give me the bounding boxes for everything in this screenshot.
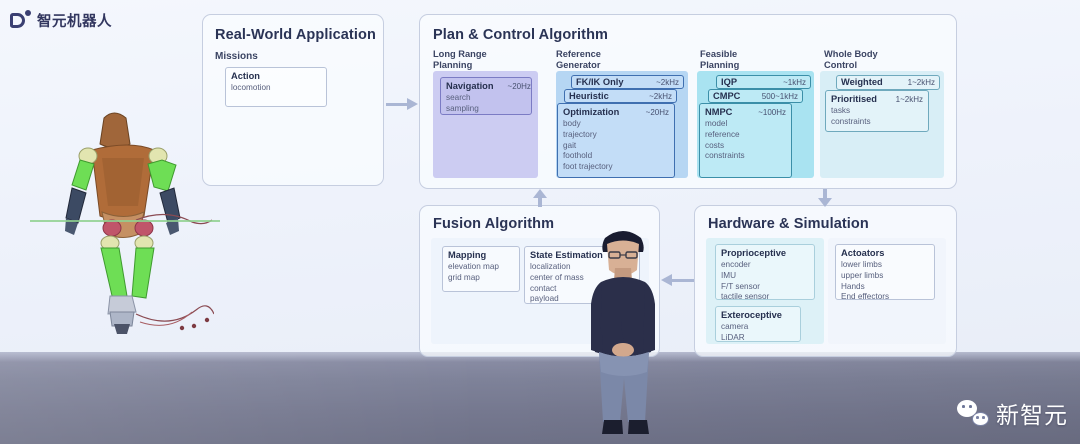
card-fk-ik-only[interactable]: FK/IK Only ~2kHz <box>571 75 684 89</box>
watermark-text: 新智元 <box>996 396 1068 430</box>
card-heuristic-title: Heuristic <box>569 91 609 101</box>
list-item: upper limbs <box>841 271 929 282</box>
card-navigation-items: search sampling <box>446 93 526 115</box>
list-item: trajectory <box>563 130 669 141</box>
list-item: grid map <box>448 273 514 284</box>
card-nmpc-items: model reference costs constraints <box>705 119 786 162</box>
list-item: tasks <box>831 106 923 117</box>
card-prioritised-frequency: 1~2kHz <box>888 95 923 104</box>
real-world-subtitle: Missions <box>215 51 258 63</box>
list-item: IMU <box>721 271 809 282</box>
arrow-plan-to-hardware <box>818 189 832 207</box>
card-optimization[interactable]: Optimization ~20Hz body trajectory gait … <box>557 103 675 178</box>
card-mapping-items: elevation map grid map <box>448 262 514 284</box>
card-nmpc-title: NMPC <box>705 107 732 117</box>
card-actuators-title: Actoators <box>841 248 884 258</box>
card-heuristic-frequency: ~2kHz <box>641 92 672 101</box>
list-item: camera <box>721 322 795 333</box>
card-exteroceptive-title: Exteroceptive <box>721 310 782 320</box>
card-navigation[interactable]: Navigation ~20Hz search sampling <box>440 77 532 115</box>
list-item: foothold <box>563 151 669 162</box>
column-head-reference-generator: Reference Generator <box>556 49 601 71</box>
arrow-realworld-to-plan <box>386 98 419 110</box>
card-fk-ik-frequency: ~2kHz <box>648 78 679 87</box>
card-cmpc-frequency: 500~1kHz <box>754 92 798 101</box>
card-proprioceptive-title: Proprioceptive <box>721 248 786 258</box>
presenter-person <box>577 222 669 444</box>
list-item: sampling <box>446 104 526 115</box>
card-nmpc[interactable]: NMPC ~100Hz model reference costs constr… <box>699 103 792 178</box>
plan-control-title: Plan & Control Algorithm <box>433 27 608 43</box>
card-fk-ik-title: FK/IK Only <box>576 77 624 87</box>
card-exteroceptive[interactable]: Exteroceptive camera LiDAR <box>715 306 801 342</box>
card-navigation-title: Navigation <box>446 81 494 91</box>
card-optimization-frequency: ~20Hz <box>638 108 669 117</box>
card-proprioceptive-items: encoder IMU F/T sensor tactile sensor <box>721 260 809 300</box>
card-nmpc-frequency: ~100Hz <box>750 108 786 117</box>
card-proprioceptive[interactable]: Proprioceptive encoder IMU F/T sensor ta… <box>715 244 815 300</box>
list-item: search <box>446 93 526 104</box>
card-actuators-items: lower limbs upper limbs Hands End effect… <box>841 260 929 300</box>
stage-floor <box>0 352 1080 444</box>
card-prioritised[interactable]: Prioritised 1~2kHz tasks constraints <box>825 90 929 132</box>
arrow-fusion-to-plan <box>533 189 547 207</box>
card-optimization-items: body trajectory gait foothold foot traje… <box>563 119 669 173</box>
hardware-title: Hardware & Simulation <box>708 216 869 232</box>
list-item: End effectors <box>841 292 929 300</box>
list-item: foot trajectory <box>563 162 669 173</box>
card-exteroceptive-items: camera LiDAR <box>721 322 795 342</box>
card-mapping-title: Mapping <box>448 250 486 260</box>
list-item: gait <box>563 141 669 152</box>
card-weighted-frequency: 1~2kHz <box>900 78 935 87</box>
list-item: F/T sensor <box>721 282 809 293</box>
card-mapping[interactable]: Mapping elevation map grid map <box>442 246 520 292</box>
list-item: lower limbs <box>841 260 929 271</box>
wechat-icon <box>957 400 989 426</box>
list-item: encoder <box>721 260 809 271</box>
list-item: constraints <box>705 151 786 162</box>
card-action-items: locomotion <box>231 83 321 94</box>
card-iqp[interactable]: IQP ~1kHz <box>716 75 811 89</box>
presenter-silhouette <box>577 222 669 444</box>
card-iqp-frequency: ~1kHz <box>775 78 806 87</box>
column-head-long-range-planning: Long Range Planning <box>433 49 487 71</box>
watermark: 新智元 <box>957 396 1068 430</box>
list-item: LiDAR <box>721 333 795 342</box>
list-item: constraints <box>831 117 923 128</box>
real-world-title: Real-World Application <box>215 27 376 43</box>
card-prioritised-items: tasks constraints <box>831 106 923 128</box>
fusion-title: Fusion Algorithm <box>433 216 554 232</box>
panel-plan-control-algorithm: Plan & Control Algorithm Long Range Plan… <box>419 14 957 189</box>
column-head-whole-body-control: Whole Body Control <box>824 49 878 71</box>
card-optimization-title: Optimization <box>563 107 619 117</box>
list-item: reference <box>705 130 786 141</box>
card-iqp-title: IQP <box>721 77 737 87</box>
slide-diagram: Real-World Application Missions Action l… <box>0 0 1080 360</box>
list-item: body <box>563 119 669 130</box>
panel-hardware-simulation: Hardware & Simulation Proprioceptive enc… <box>694 205 957 357</box>
list-item: tactile sensor <box>721 292 809 300</box>
card-weighted[interactable]: Weighted 1~2kHz <box>836 75 940 90</box>
card-heuristic[interactable]: Heuristic ~2kHz <box>564 89 677 103</box>
card-cmpc-title: CMPC <box>713 91 740 101</box>
list-item: locomotion <box>231 83 321 94</box>
card-prioritised-title: Prioritised <box>831 94 877 104</box>
list-item: costs <box>705 141 786 152</box>
list-item: elevation map <box>448 262 514 273</box>
card-weighted-title: Weighted <box>841 77 883 87</box>
card-actuators[interactable]: Actoators lower limbs upper limbs Hands … <box>835 244 935 300</box>
card-action[interactable]: Action locomotion <box>225 67 327 107</box>
panel-real-world-application: Real-World Application Missions Action l… <box>202 14 384 186</box>
list-item: Hands <box>841 282 929 293</box>
card-navigation-frequency: ~20Hz <box>500 82 531 91</box>
card-action-title: Action <box>231 71 260 81</box>
list-item: model <box>705 119 786 130</box>
card-cmpc[interactable]: CMPC 500~1kHz <box>708 89 803 103</box>
column-head-feasible-planning: Feasible Planning <box>700 49 739 71</box>
